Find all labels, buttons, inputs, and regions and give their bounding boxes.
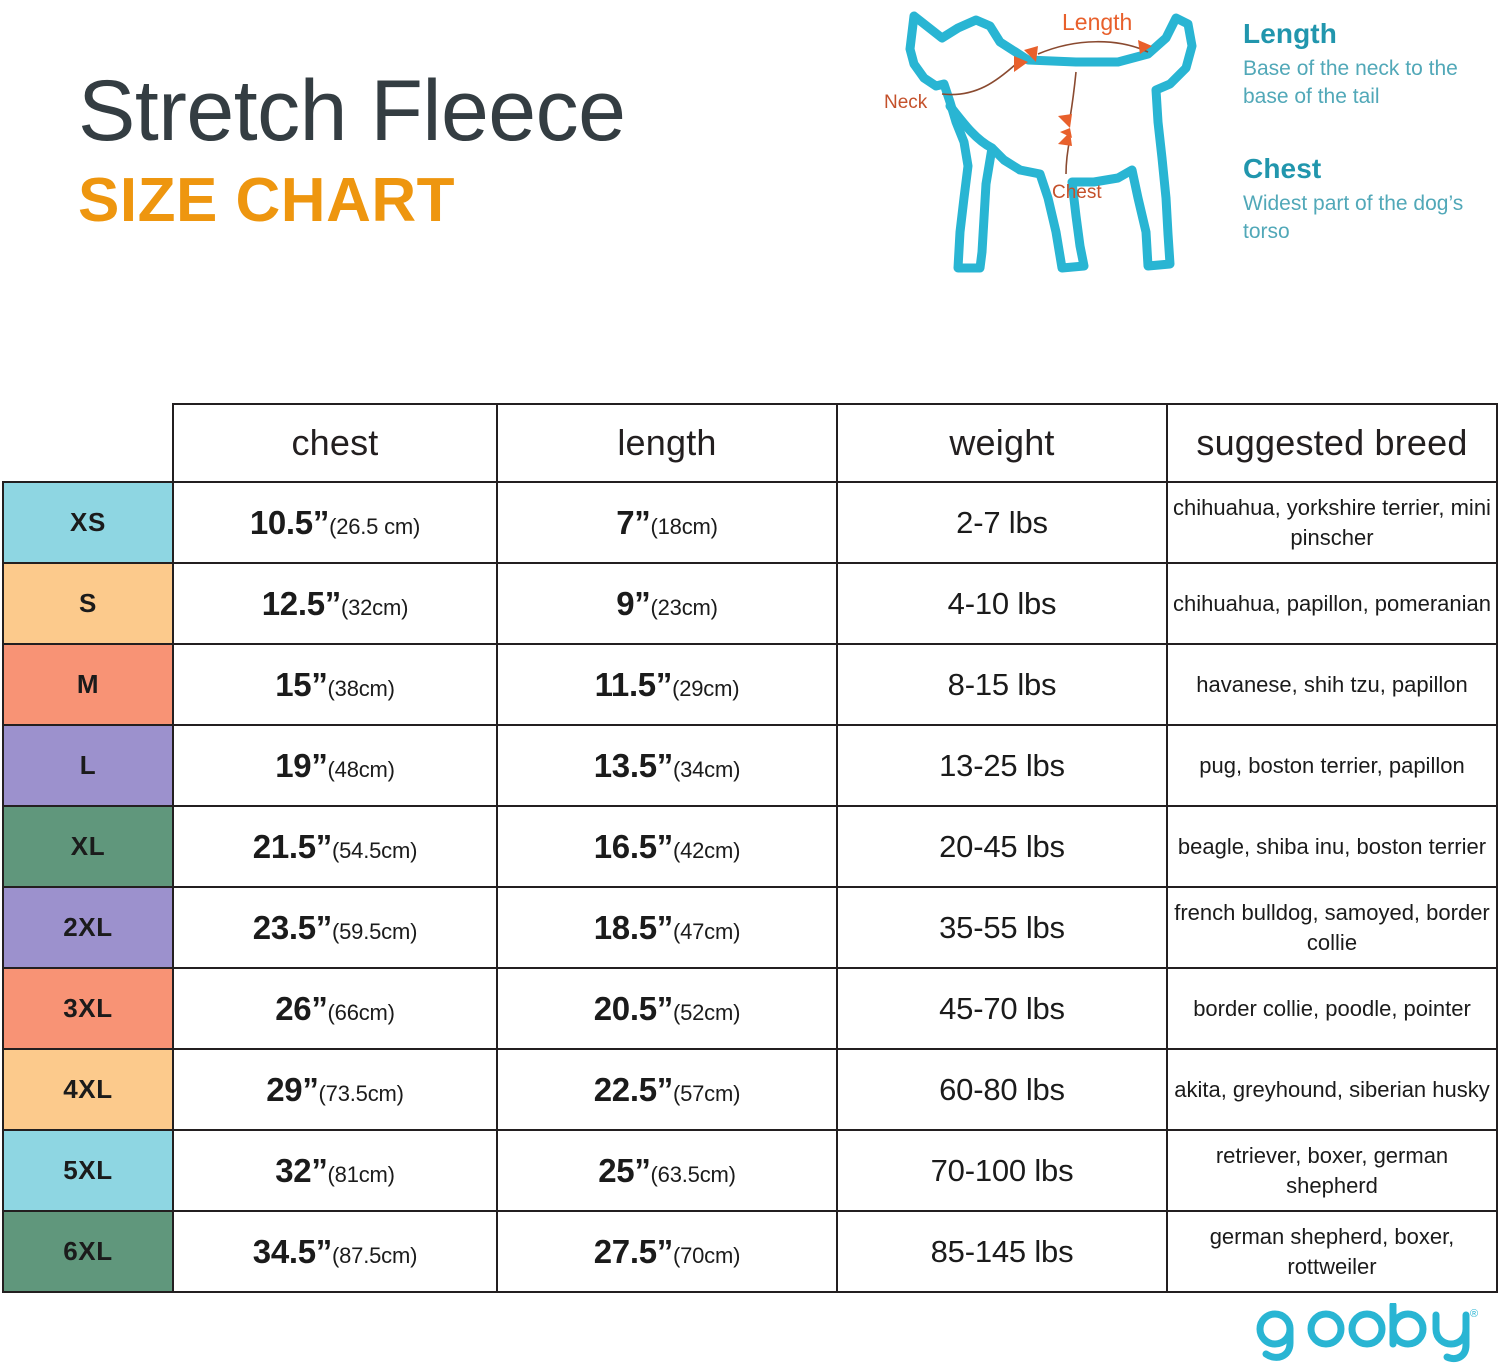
- chest-inches: 26”: [275, 990, 327, 1027]
- weight-cell: 13-25 lbs: [837, 725, 1167, 806]
- length-inches: 18.5”: [594, 909, 673, 946]
- weight-cell: 60-80 lbs: [837, 1049, 1167, 1130]
- legend-definition-length: Base of the neck to the base of the tail: [1243, 55, 1493, 111]
- weight-cell: 35-55 lbs: [837, 887, 1167, 968]
- size-cell-3xl: 3XL: [3, 968, 173, 1049]
- breed-cell: havanese, shih tzu, papillon: [1167, 644, 1497, 725]
- chest-label: Chest: [1052, 182, 1102, 203]
- measurement-legend: Length Base of the neck to the base of t…: [1243, 16, 1493, 246]
- header-cell-size: [3, 404, 173, 482]
- length-inches: 16.5”: [594, 828, 673, 865]
- breed-cell: german shepherd, boxer, rottweiler: [1167, 1211, 1497, 1292]
- size-chart-page: Stretch Fleece SIZE CHART: [0, 0, 1500, 1371]
- length-inches: 27.5”: [594, 1233, 673, 1270]
- legend-term-length: Length: [1243, 16, 1493, 51]
- length-cell: 13.5”(34cm): [497, 725, 837, 806]
- chest-cm: (59.5cm): [332, 919, 417, 944]
- breed-cell: chihuahua, yorkshire terrier, mini pinsc…: [1167, 482, 1497, 563]
- page-title: Stretch Fleece: [78, 68, 625, 156]
- size-cell-xl: XL: [3, 806, 173, 887]
- neck-label: Neck: [884, 92, 928, 113]
- chest-inches: 32”: [275, 1152, 327, 1189]
- header-cell-breed: suggested breed: [1167, 404, 1497, 482]
- size-cell-s: S: [3, 563, 173, 644]
- size-cell-6xl: 6XL: [3, 1211, 173, 1292]
- chest-cm: (26.5 cm): [329, 514, 420, 539]
- length-cm: (63.5cm): [651, 1162, 736, 1187]
- chest-cell: 32”(81cm): [173, 1130, 497, 1211]
- length-cell: 16.5”(42cm): [497, 806, 837, 887]
- chest-cell: 10.5”(26.5 cm): [173, 482, 497, 563]
- length-inches: 7”: [616, 504, 650, 541]
- legend-definition-chest: Widest part of the dog’s torso: [1243, 190, 1493, 246]
- chest-cell: 26”(66cm): [173, 968, 497, 1049]
- chest-inches: 29”: [266, 1071, 318, 1108]
- length-inches: 11.5”: [595, 666, 672, 703]
- gooby-logo: ®: [1248, 1303, 1478, 1365]
- length-cm: (57cm): [673, 1081, 740, 1106]
- chest-cm: (32cm): [341, 595, 408, 620]
- length-cell: 20.5”(52cm): [497, 968, 837, 1049]
- table-row: S12.5”(32cm)9”(23cm)4-10 lbschihuahua, p…: [3, 563, 1497, 644]
- header-cell-chest: chest: [173, 404, 497, 482]
- length-cm: (34cm): [673, 757, 740, 782]
- length-inches: 13.5”: [594, 747, 673, 784]
- length-cm: (52cm): [673, 1000, 740, 1025]
- breed-cell: retriever, boxer, german shepherd: [1167, 1130, 1497, 1211]
- weight-cell: 85-145 lbs: [837, 1211, 1167, 1292]
- length-cm: (29cm): [672, 676, 739, 701]
- chest-cm: (38cm): [328, 676, 395, 701]
- weight-cell: 4-10 lbs: [837, 563, 1167, 644]
- header-label-length: length: [617, 422, 716, 463]
- legend-item-chest: Chest Widest part of the dog’s torso: [1243, 151, 1493, 246]
- length-cm: (70cm): [673, 1243, 740, 1268]
- chest-inches: 10.5”: [250, 504, 329, 541]
- length-cm: (47cm): [673, 919, 740, 944]
- header-row: chest length weight suggested breed: [3, 404, 1497, 482]
- size-cell-m: M: [3, 644, 173, 725]
- breed-cell: chihuahua, papillon, pomeranian: [1167, 563, 1497, 644]
- table-row: M15”(38cm)11.5”(29cm)8-15 lbshavanese, s…: [3, 644, 1497, 725]
- table-row: 3XL26”(66cm)20.5”(52cm)45-70 lbsborder c…: [3, 968, 1497, 1049]
- header-label-breed: suggested breed: [1196, 422, 1467, 463]
- chest-inches: 12.5”: [262, 585, 341, 622]
- length-inches: 9”: [616, 585, 650, 622]
- breed-cell: border collie, poodle, pointer: [1167, 968, 1497, 1049]
- chest-cell: 19”(48cm): [173, 725, 497, 806]
- weight-cell: 2-7 lbs: [837, 482, 1167, 563]
- chest-inches: 23.5”: [253, 909, 332, 946]
- weight-cell: 8-15 lbs: [837, 644, 1167, 725]
- table-row: XS10.5”(26.5 cm)7”(18cm)2-7 lbschihuahua…: [3, 482, 1497, 563]
- chest-cell: 15”(38cm): [173, 644, 497, 725]
- page-subtitle: SIZE CHART: [78, 170, 625, 232]
- header: Stretch Fleece SIZE CHART: [0, 0, 1500, 400]
- length-label: Length: [1062, 9, 1132, 35]
- length-cell: 7”(18cm): [497, 482, 837, 563]
- title-block: Stretch Fleece SIZE CHART: [78, 68, 625, 232]
- weight-cell: 20-45 lbs: [837, 806, 1167, 887]
- size-cell-xs: XS: [3, 482, 173, 563]
- chest-cm: (81cm): [328, 1162, 395, 1187]
- breed-cell: pug, boston terrier, papillon: [1167, 725, 1497, 806]
- weight-cell: 70-100 lbs: [837, 1130, 1167, 1211]
- table-header: chest length weight suggested breed: [3, 404, 1497, 482]
- chest-cell: 12.5”(32cm): [173, 563, 497, 644]
- length-cell: 9”(23cm): [497, 563, 837, 644]
- legend-term-chest: Chest: [1243, 151, 1493, 186]
- breed-cell: beagle, shiba inu, boston terrier: [1167, 806, 1497, 887]
- table-row: XL21.5”(54.5cm)16.5”(42cm)20-45 lbsbeagl…: [3, 806, 1497, 887]
- table-row: 5XL32”(81cm)25”(63.5cm)70-100 lbsretriev…: [3, 1130, 1497, 1211]
- dog-outline-icon: [910, 16, 1192, 268]
- header-label-weight: weight: [949, 422, 1054, 463]
- header-cell-weight: weight: [837, 404, 1167, 482]
- length-inches: 22.5”: [594, 1071, 673, 1108]
- table-row: 6XL34.5”(87.5cm)27.5”(70cm)85-145 lbsger…: [3, 1211, 1497, 1292]
- size-cell-5xl: 5XL: [3, 1130, 173, 1211]
- length-cm: (18cm): [651, 514, 718, 539]
- legend-item-length: Length Base of the neck to the base of t…: [1243, 16, 1493, 111]
- dog-diagram: Neck Length Chest: [880, 2, 1240, 292]
- length-cell: 18.5”(47cm): [497, 887, 837, 968]
- size-cell-l: L: [3, 725, 173, 806]
- size-cell-4xl: 4XL: [3, 1049, 173, 1130]
- chest-cell: 29”(73.5cm): [173, 1049, 497, 1130]
- header-label-chest: chest: [291, 422, 378, 463]
- length-inches: 25”: [598, 1152, 650, 1189]
- chest-cm: (73.5cm): [319, 1081, 404, 1106]
- chest-cell: 34.5”(87.5cm): [173, 1211, 497, 1292]
- chest-cm: (87.5cm): [332, 1243, 417, 1268]
- length-cell: 27.5”(70cm): [497, 1211, 837, 1292]
- breed-cell: akita, greyhound, siberian husky: [1167, 1049, 1497, 1130]
- weight-cell: 45-70 lbs: [837, 968, 1167, 1049]
- length-cell: 11.5”(29cm): [497, 644, 837, 725]
- chest-inches: 19”: [275, 747, 327, 784]
- chest-cell: 23.5”(59.5cm): [173, 887, 497, 968]
- table-row: L19”(48cm)13.5”(34cm)13-25 lbspug, bosto…: [3, 725, 1497, 806]
- size-chart-table: chest length weight suggested breed XS10…: [2, 403, 1498, 1293]
- table-row: 4XL29”(73.5cm)22.5”(57cm)60-80 lbsakita,…: [3, 1049, 1497, 1130]
- chest-cm: (54.5cm): [332, 838, 417, 863]
- breed-cell: french bulldog, samoyed, border collie: [1167, 887, 1497, 968]
- chest-cm: (48cm): [328, 757, 395, 782]
- chest-inches: 21.5”: [253, 828, 332, 865]
- length-inches: 20.5”: [594, 990, 673, 1027]
- table-row: 2XL23.5”(59.5cm)18.5”(47cm)35-55 lbsfren…: [3, 887, 1497, 968]
- header-cell-length: length: [497, 404, 837, 482]
- chest-cm: (66cm): [328, 1000, 395, 1025]
- chest-inches: 15”: [275, 666, 327, 703]
- chest-cell: 21.5”(54.5cm): [173, 806, 497, 887]
- trademark-symbol: ®: [1470, 1308, 1478, 1320]
- table-body: XS10.5”(26.5 cm)7”(18cm)2-7 lbschihuahua…: [3, 482, 1497, 1292]
- size-cell-2xl: 2XL: [3, 887, 173, 968]
- length-cm: (42cm): [673, 838, 740, 863]
- length-cm: (23cm): [651, 595, 718, 620]
- length-cell: 22.5”(57cm): [497, 1049, 837, 1130]
- length-cell: 25”(63.5cm): [497, 1130, 837, 1211]
- chest-inches: 34.5”: [253, 1233, 332, 1270]
